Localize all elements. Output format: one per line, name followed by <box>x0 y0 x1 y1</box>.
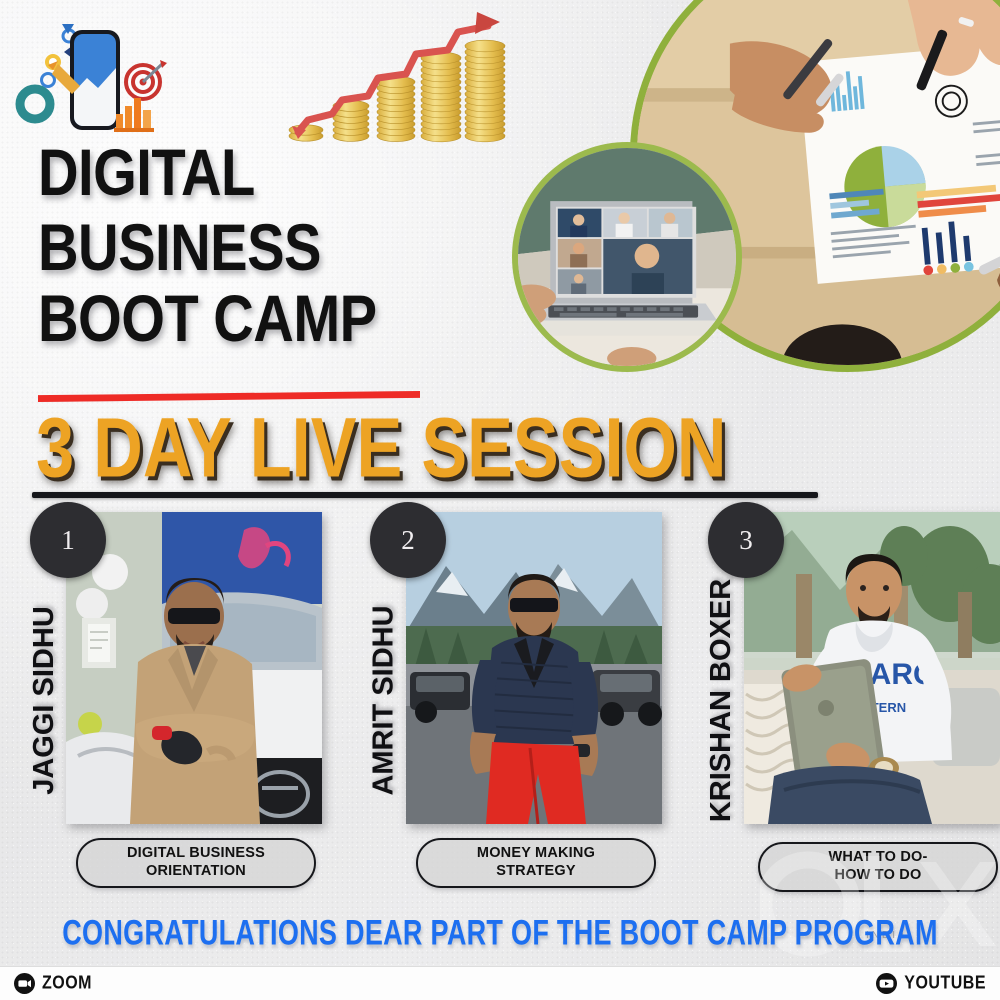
speaker-topic-2: MONEY MAKING STRATEGY <box>416 838 656 888</box>
speaker-number-badge: 1 <box>30 502 106 578</box>
video-camera-icon <box>14 973 35 994</box>
poster-canvas: DIGITAL BUSINESS BOOT CAMP 3 DAY LIVE SE… <box>0 0 1000 1000</box>
speaker-photo-1 <box>66 512 322 824</box>
coin-stack-growth-chart <box>272 8 522 150</box>
topic-line-2: ORIENTATION <box>146 863 246 881</box>
speaker-number-badge: 2 <box>370 502 446 578</box>
footer-bar: ZOOM YOUTUBE <box>0 966 1000 1000</box>
speaker-name-vertical: AMRIT SIDHU <box>364 584 404 816</box>
topic-line-1: WHAT TO DO- <box>828 849 927 867</box>
speaker-number-badge: 3 <box>708 502 784 578</box>
speakers-row: 1 JAGGI SIDHU <box>0 498 1000 910</box>
topic-line-2: HOW TO DO <box>835 867 922 885</box>
speaker-name-label: KRISHAN BOXER <box>706 578 739 821</box>
topic-line-2: STRATEGY <box>496 863 575 881</box>
youtube-play-icon <box>876 973 897 994</box>
footer-zoom[interactable]: ZOOM <box>14 973 92 994</box>
laptop-video-call-photo <box>512 142 742 372</box>
speaker-card-3[interactable]: 3 KRISHAN BOXER <box>700 498 1000 910</box>
session-banner-text: 3 DAY LIVE SESSION <box>36 403 858 490</box>
speaker-card-1[interactable]: 1 JAGGI SIDHU <box>22 498 348 910</box>
topic-line-1: DIGITAL BUSINESS <box>127 845 265 863</box>
congratulations-banner: CONGRATULATIONS DEAR PART OF THE BOOT CA… <box>0 913 1000 954</box>
speaker-photo-2 <box>406 512 662 824</box>
speaker-name-label: JAGGI SIDHU <box>28 606 61 795</box>
headline-line-2: BUSINESS <box>38 219 526 280</box>
footer-youtube[interactable]: YOUTUBE <box>876 973 986 994</box>
topic-line-1: MONEY MAKING <box>477 845 595 863</box>
headline-line-1: DIGITAL <box>38 144 526 205</box>
footer-youtube-label: YOUTUBE <box>904 973 986 994</box>
footer-zoom-label: ZOOM <box>42 973 92 994</box>
speaker-topic-3: WHAT TO DO- HOW TO DO <box>758 842 998 892</box>
speaker-photo-3: BARC EASTERN <box>744 512 1000 824</box>
page-title: DIGITAL BUSINESS BOOT CAMP <box>38 150 498 344</box>
speaker-name-vertical: JAGGI SIDHU <box>24 584 64 816</box>
speaker-name-label: AMRIT SIDHU <box>368 605 401 795</box>
headline-line-3: BOOT CAMP <box>38 289 526 350</box>
speaker-card-2[interactable]: 2 AMRIT SIDHU <box>362 498 688 910</box>
speaker-name-vertical: KRISHAN BOXER <box>702 584 742 816</box>
speaker-topic-1: DIGITAL BUSINESS ORIENTATION <box>76 838 316 888</box>
digital-growth-illustration <box>12 18 172 146</box>
